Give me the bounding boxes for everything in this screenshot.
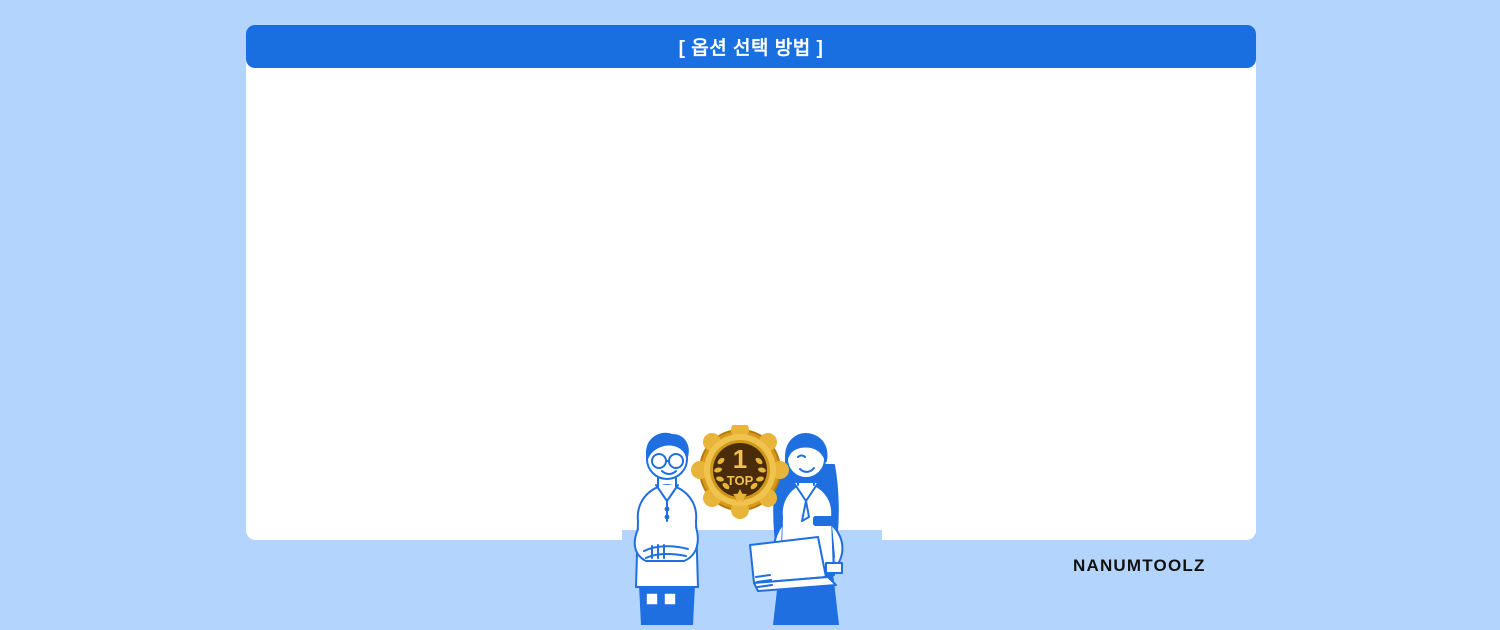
info-card: [ 옵션 선택 방법 ] 1 선택옵션만 주문 > 일반 작업가능 2 선택옵션… (246, 25, 1256, 540)
card-header: [ 옵션 선택 방법 ] (246, 25, 1256, 68)
person-arms-crossed-icon (635, 434, 698, 625)
medal-label-text: TOP (727, 473, 754, 488)
team-illustration: 1 TOP (622, 425, 882, 625)
brand-logo: NANUMTOOLZ (1073, 556, 1206, 576)
page-title: [ 옵션 선택 방법 ] (679, 33, 824, 60)
medal-rank-text: 1 (733, 444, 747, 474)
